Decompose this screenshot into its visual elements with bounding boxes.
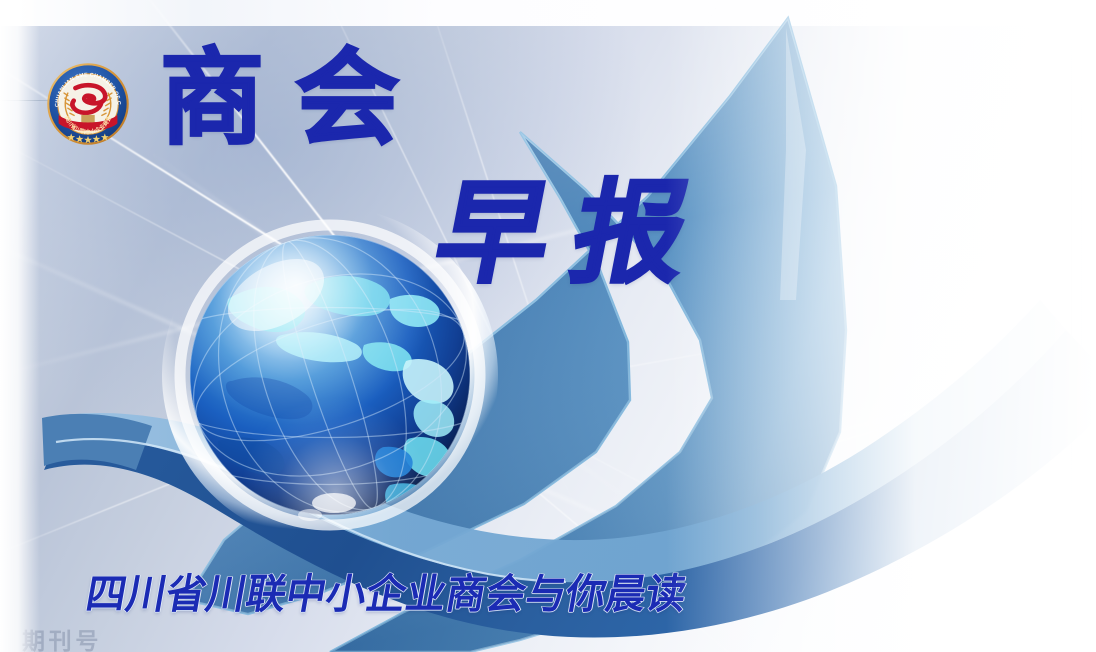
poster-root: SICHUAN CHUANLIAN SME CHAMBER OF COMMERC… [0, 0, 1096, 652]
headline-primary: 商会 [160, 46, 430, 150]
bottom-partial-text: 期刊号 [22, 622, 102, 652]
globe-bottom-spot-b [298, 509, 322, 521]
globe-bottom-spot-a [312, 493, 356, 513]
tagline: 四川省川联中小企业商会与你晨读 [82, 560, 692, 620]
headline-secondary: 早报 [427, 178, 722, 290]
globe-gloss-bottom [190, 235, 470, 515]
chamber-logo: SICHUAN CHUANLIAN SME CHAMBER OF COMMERC… [46, 62, 130, 146]
